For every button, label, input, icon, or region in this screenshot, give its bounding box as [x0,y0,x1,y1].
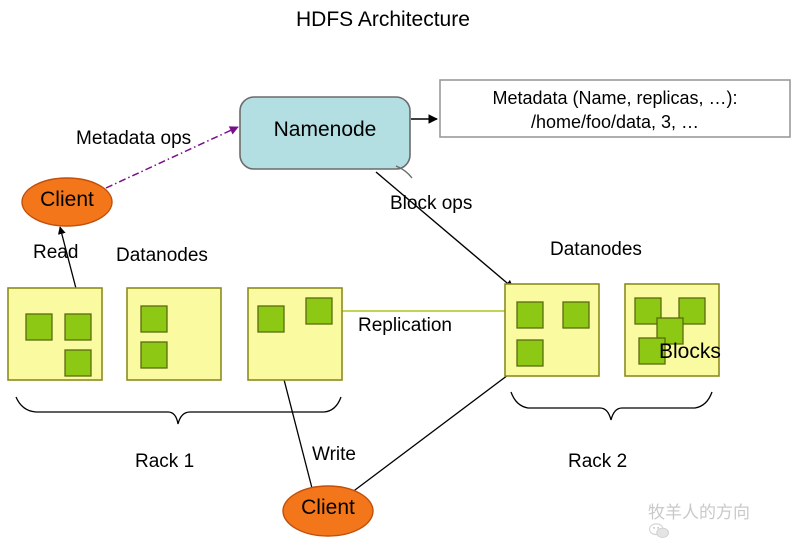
block-dn2-2 [141,342,167,368]
block-dn1-2 [65,314,91,340]
block-dn4-1 [517,302,543,328]
namenode-corner-notch [396,166,412,178]
block-dn2-1 [141,306,167,332]
client-top-label: Client [22,188,112,212]
datanodes-left-label: Datanodes [116,246,208,267]
watermark: 牧羊人的方向 [620,498,750,523]
block-dn3-1 [258,306,284,332]
namenode-label: Namenode [245,118,405,142]
block-ops-arrow [376,172,513,288]
metadata-line-1: Metadata (Name, replicas, …): [443,86,787,110]
rack1-label: Rack 1 [135,452,194,473]
metadata-box-text: Metadata (Name, replicas, …): /home/foo/… [443,86,787,135]
rack2-label: Rack 2 [568,452,627,473]
wechat-icon [620,502,642,520]
replication-label: Replication [358,316,452,337]
rack2-brace [511,392,712,420]
page-title: HDFS Architecture [296,8,470,31]
block-dn1-1 [26,314,52,340]
diagram-graphics [0,0,800,553]
metadata-ops-label: Metadata ops [76,129,191,150]
block-dn4-2 [563,302,589,328]
read-label: Read [33,243,78,264]
datanodes-right-label: Datanodes [550,240,642,261]
write-arrow-to-rack2 [347,366,520,496]
blocks-label: Blocks [659,340,721,363]
block-ops-label: Block ops [390,194,472,215]
block-dn1-3 [65,350,91,376]
write-label: Write [312,445,356,466]
metadata-line-2: /home/foo/data, 3, … [443,110,787,134]
block-dn3-2 [306,298,332,324]
block-dn4-3 [517,340,543,366]
client-bottom-label: Client [283,496,373,520]
watermark-text: 牧羊人的方向 [648,498,750,523]
hdfs-architecture-diagram: HDFS Architecture Namenode Metadata (Nam… [0,0,800,553]
